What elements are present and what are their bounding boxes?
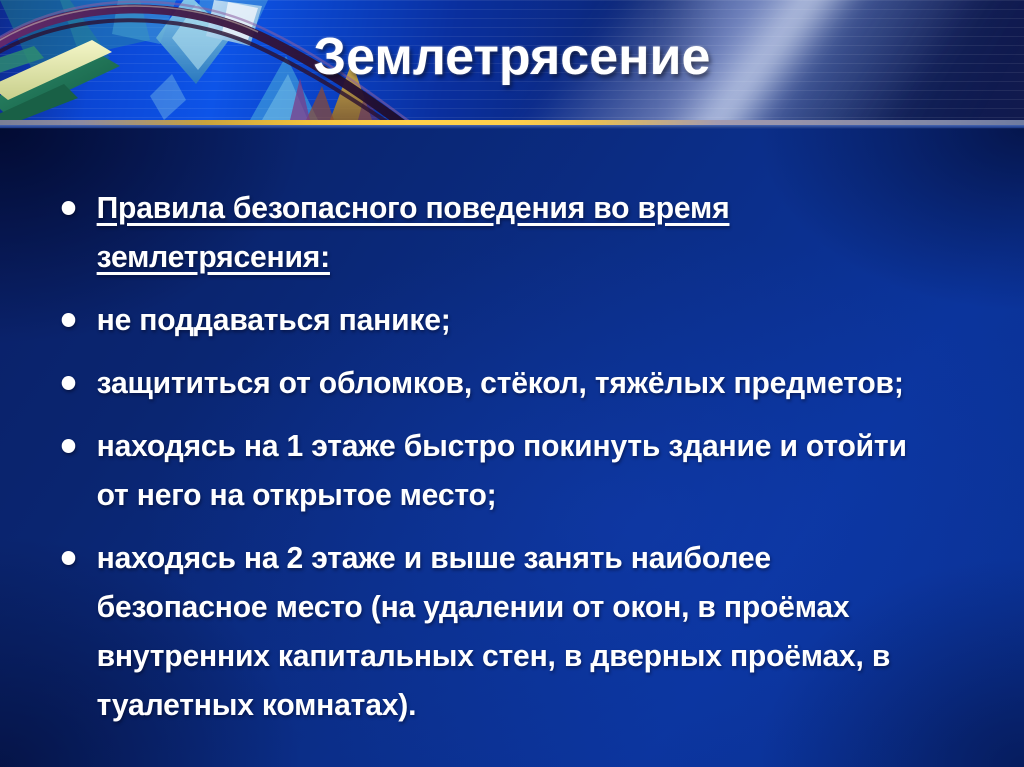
list-item-text: находясь на 1 этаже быстро покинуть здан… [97, 428, 907, 512]
list-item: находясь на 1 этаже быстро покинуть здан… [52, 421, 944, 519]
presentation-slide: Землетрясение Правила безопасного поведе… [0, 0, 1024, 767]
list-item-text: Правила безопасного поведения во время з… [97, 190, 730, 274]
bullet-dot-icon [62, 439, 76, 453]
bullet-dot-icon [62, 551, 76, 565]
list-item-text: защититься от обломков, стёкол, тяжёлых … [97, 365, 904, 400]
slide-title: Землетрясение [0, 24, 1024, 90]
list-item-text: находясь на 2 этаже и выше занять наибол… [97, 540, 891, 722]
bullet-dot-icon [62, 201, 76, 215]
slide-content: Правила безопасного поведения во время з… [0, 128, 1024, 767]
list-item: защититься от обломков, стёкол, тяжёлых … [52, 358, 944, 407]
list-item: не поддаваться панике; [52, 295, 944, 344]
safety-rules-list: Правила безопасного поведения во время з… [52, 183, 972, 743]
bullet-dot-icon [62, 376, 76, 390]
slide-header-banner: Землетрясение [0, 0, 1024, 120]
list-item: Правила безопасного поведения во время з… [52, 183, 944, 281]
list-item-text: не поддаваться панике; [97, 302, 451, 337]
bullet-dot-icon [62, 313, 76, 327]
list-item: находясь на 2 этаже и выше занять наибол… [52, 533, 944, 729]
